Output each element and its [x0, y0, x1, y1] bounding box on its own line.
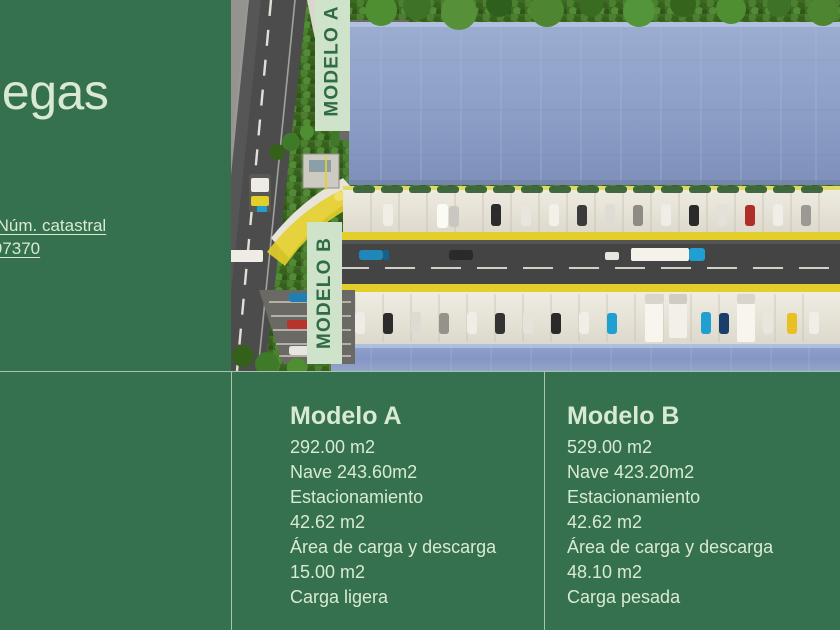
model-a-line-7: Carga ligera — [290, 585, 544, 610]
model-a-line-3: Estacionamiento — [290, 485, 544, 510]
left-info-panel: bodegas Total n n 14 700, Núm. catastral… — [0, 0, 231, 371]
aerial-site-render: MODELO A MODELO B — [231, 0, 840, 371]
model-a-line-1: 292.00 m2 — [290, 435, 544, 460]
model-spec-column-b: Modelo B 529.00 m2 Nave 423.20m2 Estacio… — [545, 372, 840, 630]
model-a-title: Modelo A — [290, 402, 544, 431]
modelo-a-map-label: MODELO A — [315, 0, 350, 131]
model-a-line-4: 42.62 m2 — [290, 510, 544, 535]
model-a-line-2: Nave 243.60m2 — [290, 460, 544, 485]
model-a-line-5: Área de carga y descarga — [290, 535, 544, 560]
address-line-1: n 14 700, Núm. catastral — [0, 216, 106, 236]
page-title: bodegas — [0, 66, 108, 118]
model-b-line-2: Nave 423.20m2 — [567, 460, 840, 485]
model-b-title: Modelo B — [567, 402, 840, 431]
model-b-line-5: Área de carga y descarga — [567, 535, 840, 560]
model-b-line-6: 48.10 m2 — [567, 560, 840, 585]
model-spec-column-a: Modelo A 292.00 m2 Nave 243.60m2 Estacio… — [232, 372, 544, 630]
model-b-line-3: Estacionamiento — [567, 485, 840, 510]
presentation-slide: bodegas Total n n 14 700, Núm. catastral… — [0, 0, 840, 630]
modelo-a-map-label-text: MODELO A — [322, 5, 344, 116]
modelo-b-map-label: MODELO B — [307, 222, 342, 364]
address-line-2: Kanasín, 97370 — [0, 239, 40, 259]
modelo-b-map-label-text: MODELO B — [314, 237, 336, 349]
model-b-line-1: 529.00 m2 — [567, 435, 840, 460]
model-b-line-4: 42.62 m2 — [567, 510, 840, 535]
model-a-line-6: 15.00 m2 — [290, 560, 544, 585]
model-b-line-7: Carga pesada — [567, 585, 840, 610]
